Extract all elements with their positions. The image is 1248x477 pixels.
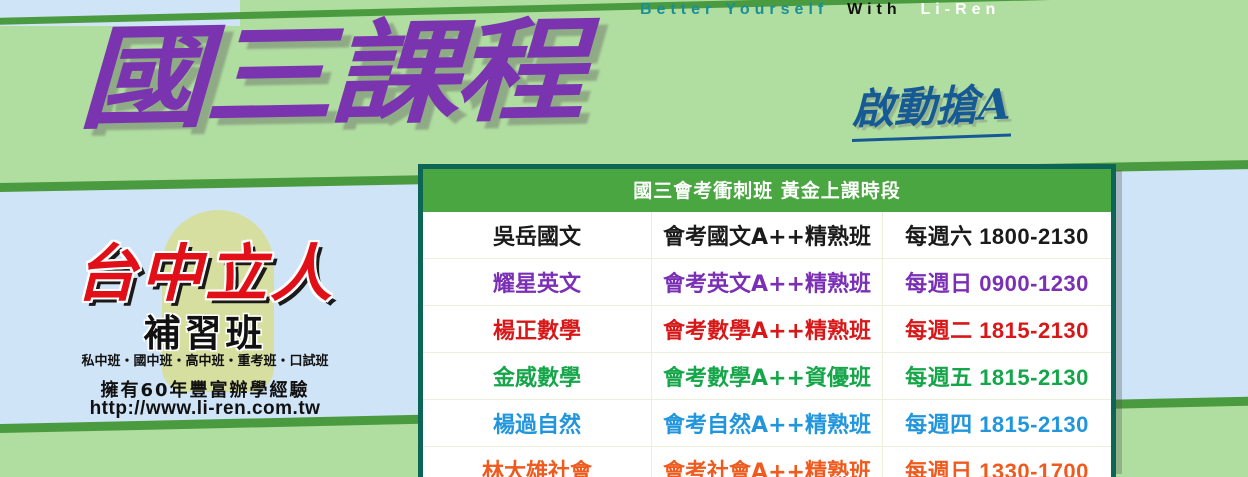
cell-class-name: 會考自然A++精熟班 — [652, 400, 883, 447]
schedule-table-body: 吳岳國文會考國文A++精熟班每週六 1800-2130耀星英文會考英文A++精熟… — [421, 212, 1114, 477]
cell-class-time: 每週五 1815-2130 — [883, 353, 1114, 400]
website-url[interactable]: http://www.li-ren.com.tw — [30, 398, 380, 420]
table-row: 耀星英文會考英文A++精熟班每週日 0900-1230 — [421, 259, 1114, 306]
cell-teacher-subject: 楊過自然 — [421, 400, 652, 447]
cell-class-time: 每週六 1800-2130 — [883, 212, 1114, 259]
cell-class-name: 會考數學A++精熟班 — [652, 306, 883, 353]
cell-class-name: 會考英文A++精熟班 — [652, 259, 883, 306]
cell-class-name: 會考社會A++精熟班 — [652, 447, 883, 477]
cell-class-time: 每週日 1330-1700 — [883, 447, 1114, 477]
tagline-part1: Better Yourself — [640, 1, 828, 18]
logo-type: 補習班 — [32, 303, 378, 357]
table-row: 金威數學會考數學A++資優班每週五 1815-2130 — [421, 353, 1114, 400]
cell-class-time: 每週四 1815-2130 — [883, 400, 1114, 447]
cell-class-time: 每週二 1815-2130 — [883, 306, 1114, 353]
cell-teacher-subject: 金威數學 — [421, 353, 652, 400]
cell-class-name: 會考國文A++精熟班 — [652, 212, 883, 259]
brand-tagline: Better Yourself With Li-Ren — [640, 1, 1000, 19]
table-row: 吳岳國文會考國文A++精熟班每週六 1800-2130 — [421, 212, 1114, 259]
cell-teacher-subject: 吳岳國文 — [421, 212, 652, 259]
cell-class-name: 會考數學A++資優班 — [652, 353, 883, 400]
promo-banner: Better Yourself With Li-Ren 國三課程 啟動搶A 台中… — [0, 0, 1248, 477]
table-row: 林大雄社會會考社會A++精熟班每週日 1330-1700 — [421, 447, 1114, 477]
cell-teacher-subject: 楊正數學 — [421, 306, 652, 353]
schedule-table-title: 國三會考衝刺班 黃金上課時段 — [421, 167, 1114, 213]
schedule-table: 國三會考衝刺班 黃金上課時段 吳岳國文會考國文A++精熟班每週六 1800-21… — [418, 164, 1116, 477]
page-subtitle: 啟動搶A — [852, 70, 1011, 142]
table-row: 楊過自然會考自然A++精熟班每週四 1815-2130 — [421, 400, 1114, 447]
cell-teacher-subject: 林大雄社會 — [421, 447, 652, 477]
tagline-part2: With — [847, 1, 902, 18]
cell-teacher-subject: 耀星英文 — [421, 259, 652, 306]
cell-class-time: 每週日 0900-1230 — [883, 259, 1114, 306]
page-title: 國三課程 — [78, 5, 579, 146]
logo-name: 台中立人 — [32, 223, 378, 313]
logo-tagline: 私中班・國中班・高中班・重考班・口試班 — [32, 350, 378, 369]
table-header-row: 國三會考衝刺班 黃金上課時段 — [421, 167, 1114, 213]
tagline-part3: Li-Ren — [921, 1, 1001, 18]
table-row: 楊正數學會考數學A++精熟班每週二 1815-2130 — [421, 306, 1114, 353]
